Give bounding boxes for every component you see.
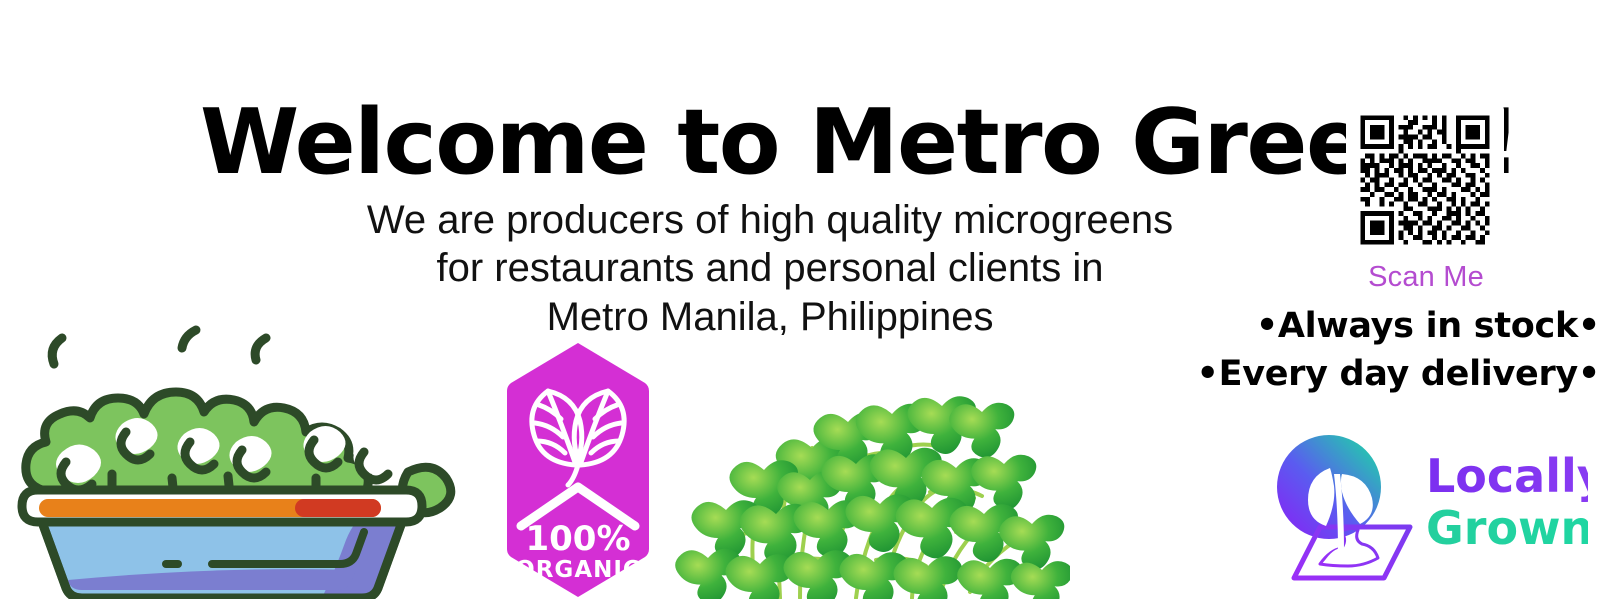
microgreens-tray-icon [4, 294, 474, 599]
claim-every-day-delivery: •Every day delivery• [1130, 351, 1600, 399]
subtitle-line-2: for restaurants and personal clients in [200, 244, 1340, 293]
locally-grown-logo-icon: Locally Grown [1258, 414, 1588, 599]
metro-greens-banner: Welcome to Metro Greens! We are producer… [0, 0, 1600, 599]
microgreens-tray-illustration [4, 294, 474, 599]
logo-word-grown: Grown [1426, 501, 1588, 555]
organic-badge-icon: 100% ORGANIC [505, 341, 651, 599]
microgreens-cluster-icon [660, 352, 1070, 599]
organic-word: ORGANIC [515, 557, 641, 583]
claim-always-in-stock: •Always in stock• [1130, 303, 1600, 351]
microgreens-cluster-illustration [660, 352, 1070, 599]
qr-panel[interactable]: Scan Me [1346, 101, 1506, 292]
locally-grown-logo: Locally Grown [1258, 414, 1588, 599]
qr-code-icon[interactable] [1346, 101, 1504, 259]
organic-badge: 100% ORGANIC [505, 341, 651, 599]
claims-block: •Always in stock• •Every day delivery• [1130, 303, 1600, 398]
scan-me-label: Scan Me [1346, 263, 1506, 292]
page-title: Welcome to Metro Greens! [200, 96, 1340, 190]
logo-word-locally: Locally [1426, 449, 1588, 503]
subtitle-line-1: We are producers of high quality microgr… [200, 196, 1340, 245]
organic-percent: 100% [525, 519, 630, 559]
